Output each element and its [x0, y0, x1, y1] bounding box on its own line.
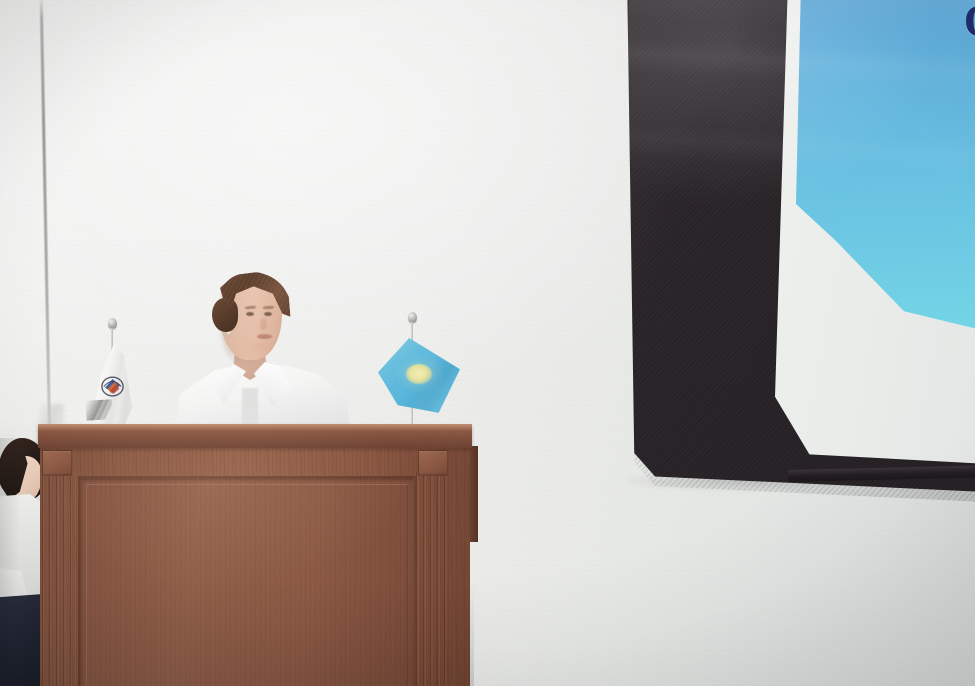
- presenter-nose: [260, 318, 267, 330]
- lectern-corner-block-right: [418, 450, 448, 476]
- lectern-corner-block-left: [42, 450, 72, 476]
- photo-scene: O I: [0, 0, 975, 686]
- kazakhstan-flag: [372, 312, 468, 436]
- lectern-top-ledge: [38, 424, 472, 448]
- lectern-pilaster-right: [416, 472, 446, 686]
- institutional-flag-fringe: [85, 399, 112, 420]
- lectern-pilaster-left: [42, 472, 72, 686]
- kazakhstan-flag-folds: [378, 338, 460, 416]
- presenter: [168, 272, 358, 438]
- institutional-flag-emblem-icon: [100, 374, 125, 399]
- lectern-center-panel: [78, 476, 416, 686]
- presenter-chin: [248, 342, 274, 354]
- wooden-lectern: [38, 424, 474, 686]
- institutional-flag: [78, 318, 148, 436]
- projection-screen: O I: [620, 0, 975, 502]
- lectern-ledge-highlight: [38, 424, 472, 431]
- presenter-eye-left: [246, 312, 254, 316]
- presenter-eye-right: [264, 312, 272, 316]
- lectern-side-return: [470, 446, 478, 542]
- lectern-panel-bevel: [86, 484, 408, 686]
- presenter-lips: [257, 334, 272, 339]
